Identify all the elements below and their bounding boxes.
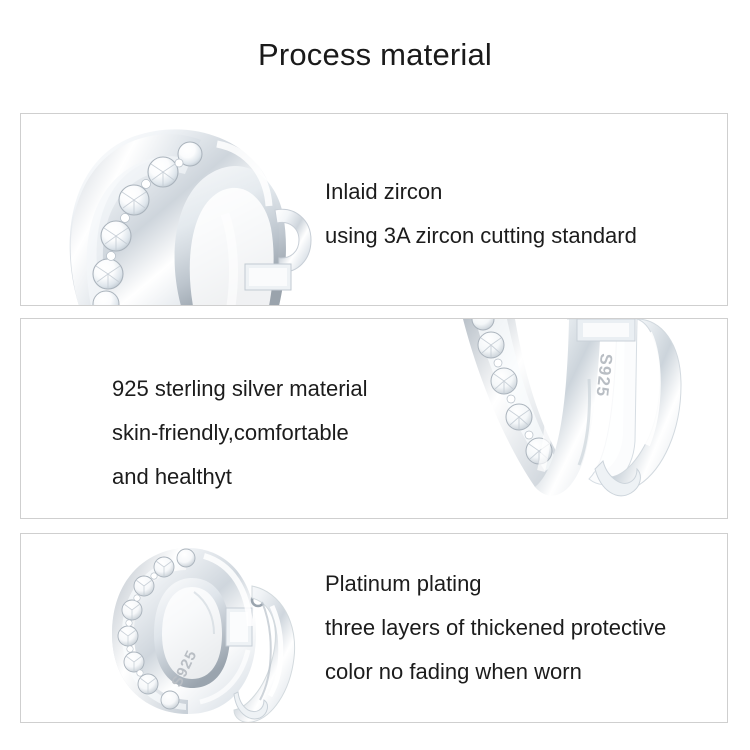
panel-1-text: Inlaid zircon using 3A zircon cutting st… [325, 170, 637, 258]
zircon-pave-earring-closeup-image [39, 114, 329, 306]
sterling-silver-earring-stamp-image: S925 [449, 319, 728, 519]
panel-3-text: Platinum plating three layers of thicken… [325, 562, 666, 694]
panel-3-line-1: Platinum plating [325, 562, 666, 606]
panel-3-line-3: color no fading when worn [325, 650, 666, 694]
panel-3-line-2: three layers of thickened protective [325, 606, 666, 650]
feature-panel-sterling-silver: 925 sterling silver material skin-friend… [20, 318, 728, 519]
product-detail-page: Process material [0, 0, 750, 750]
panel-1-line-1: Inlaid zircon [325, 170, 637, 214]
feature-panel-platinum-plating: S925 Platinum plating three layers of th… [20, 533, 728, 723]
panel-2-line-3: and healthyt [112, 455, 368, 499]
platinum-plated-earring-full-image: S925 [76, 542, 346, 723]
panel-2-line-2: skin-friendly,comfortable [112, 411, 368, 455]
panel-1-line-2: using 3A zircon cutting standard [325, 214, 637, 258]
page-title: Process material [0, 36, 750, 74]
feature-panel-zircon: Inlaid zircon using 3A zircon cutting st… [20, 113, 728, 306]
panel-2-line-1: 925 sterling silver material [112, 367, 368, 411]
panel-2-text: 925 sterling silver material skin-friend… [112, 367, 368, 499]
